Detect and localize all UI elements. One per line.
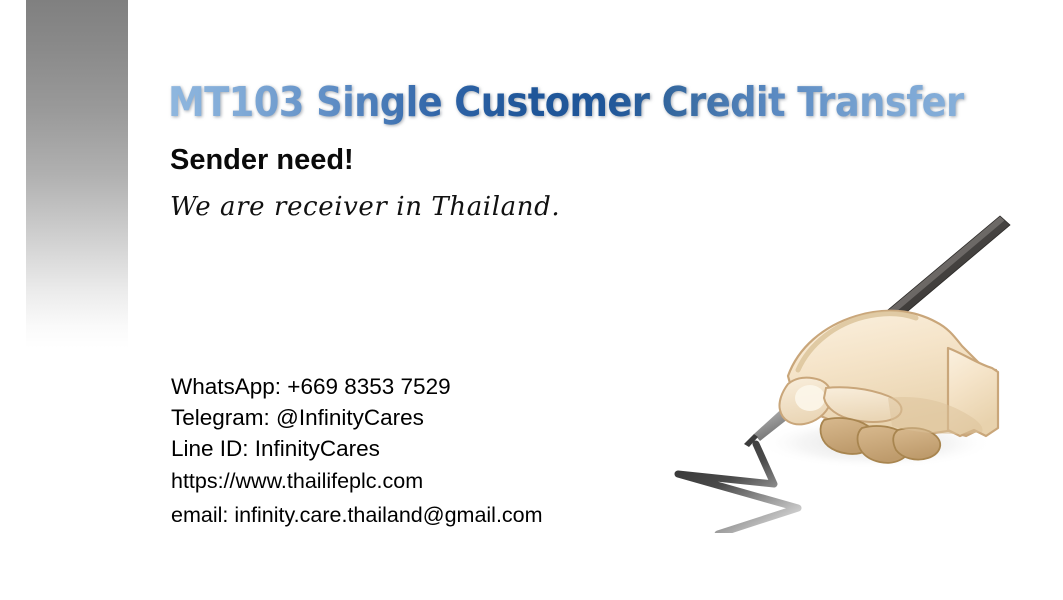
contact-line-email[interactable]: email: infinity.care.thailand@gmail.com — [171, 498, 691, 532]
contact-block: WhatsApp: +669 8353 7529 Telegram: @Infi… — [171, 371, 691, 532]
hand-writing-with-pen-icon — [648, 198, 1048, 533]
subheadline-text: We are receiver in Thailand. — [170, 192, 560, 222]
thumb-highlight — [795, 385, 825, 411]
contact-line-whatsapp: WhatsApp: +669 8353 7529 — [171, 371, 691, 402]
page-title: MT103 Single Customer Credit Transfer — [168, 78, 1008, 126]
headline-text: Sender need! — [170, 144, 354, 177]
contact-line-website[interactable]: https://www.thailifeplc.com — [171, 464, 691, 498]
contact-line-telegram: Telegram: @InfinityCares — [171, 402, 691, 433]
slide-canvas: MT103 Single Customer Credit Transfer Se… — [0, 0, 1063, 600]
gradient-side-bar — [26, 0, 128, 348]
contact-line-lineid: Line ID: InfinityCares — [171, 433, 691, 464]
